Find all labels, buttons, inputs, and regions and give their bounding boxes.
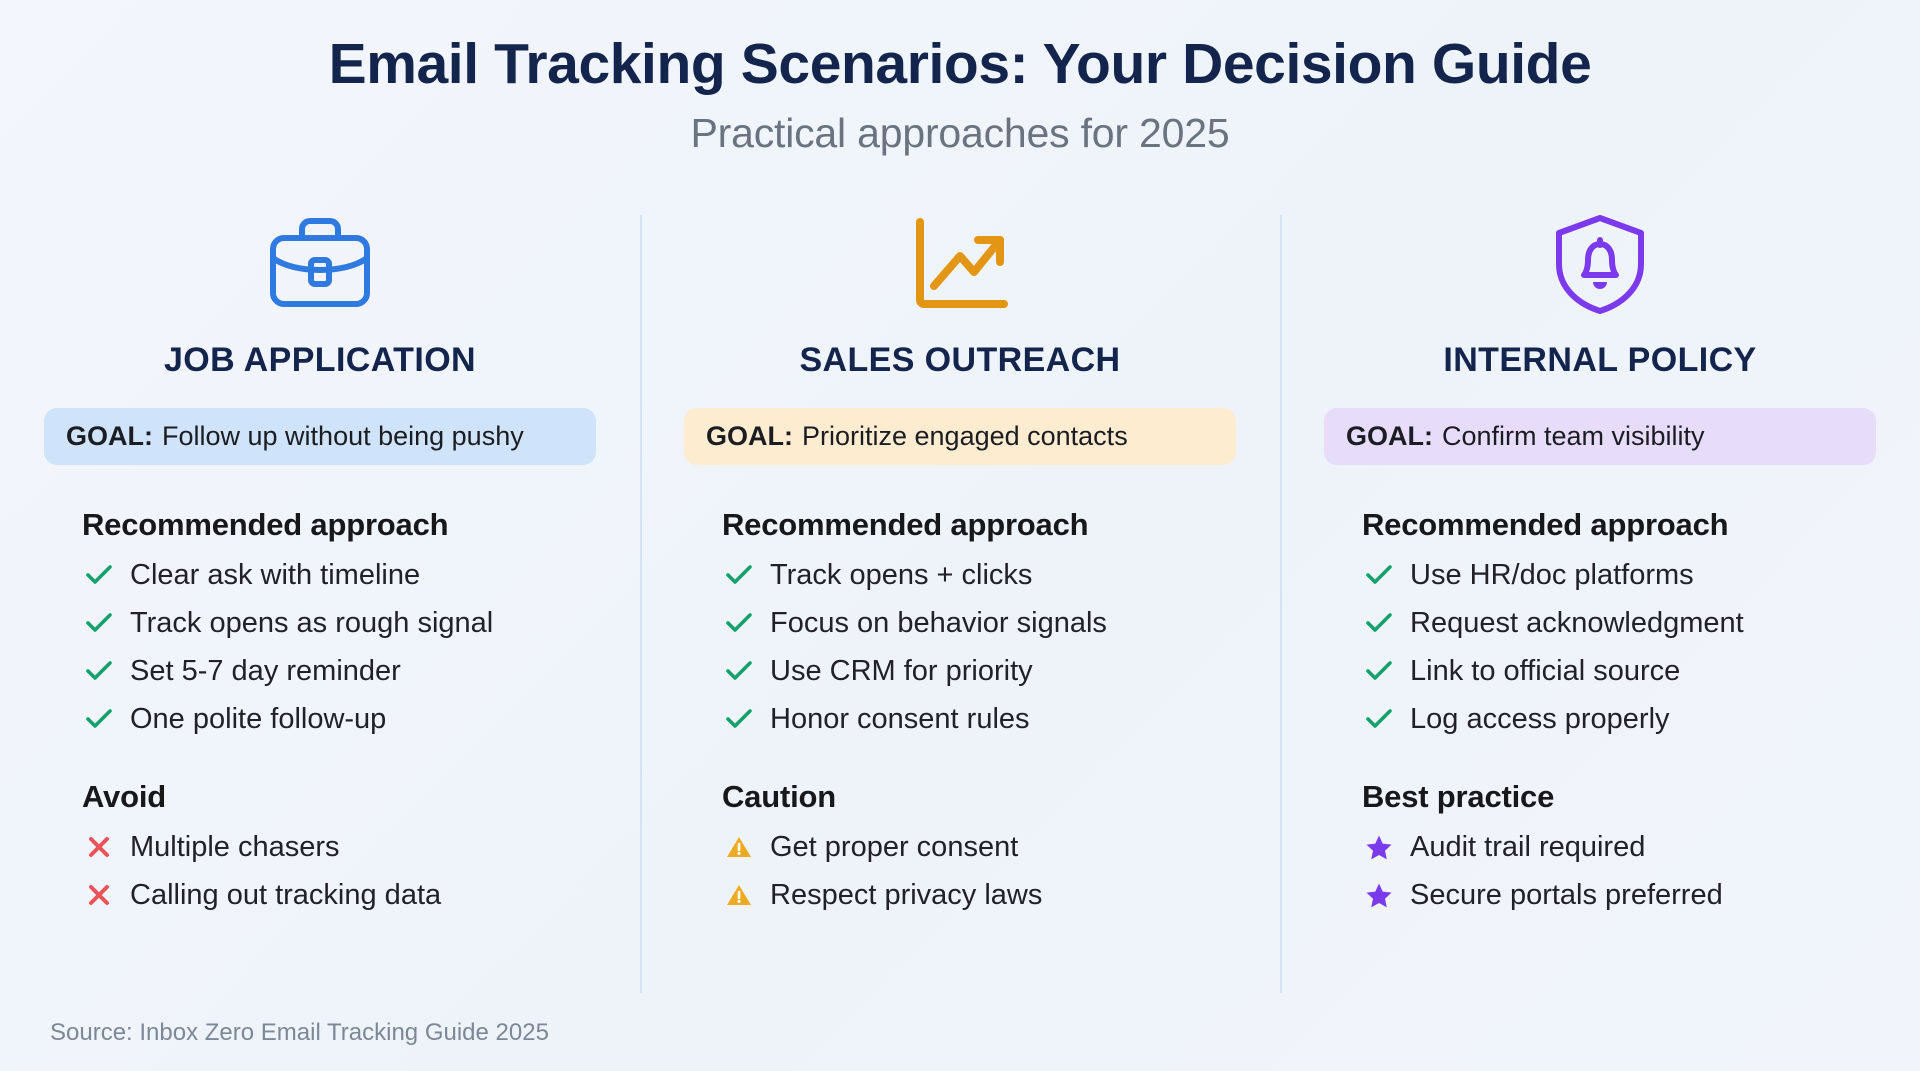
list-item-label: Audit trail required	[1410, 827, 1645, 867]
list-item: Secure portals preferred	[1362, 871, 1876, 919]
check-marker	[1362, 560, 1396, 590]
section-internal-policy-1: Best practice Audit trail required Secur…	[1324, 779, 1876, 919]
section-heading: Recommended approach	[722, 507, 1236, 543]
list-item: Log access properly	[1362, 695, 1876, 743]
list-item: One polite follow-up	[82, 695, 596, 743]
list-item: Use HR/doc platforms	[1362, 551, 1876, 599]
section-job-application-1: Avoid Multiple chasers Calling out track…	[44, 779, 596, 919]
list-item-label: Focus on behavior signals	[770, 603, 1107, 643]
list-item-label: Multiple chasers	[130, 827, 340, 867]
goal-badge-sales-outreach: GOAL: Prioritize engaged contacts	[684, 408, 1236, 465]
list-item: Honor consent rules	[722, 695, 1236, 743]
list-item-label: Set 5-7 day reminder	[130, 651, 401, 691]
warning-marker	[722, 880, 756, 910]
section-heading: Avoid	[82, 779, 596, 815]
scenario-column-internal-policy: INTERNAL POLICY GOAL: Confirm team visib…	[1280, 205, 1920, 995]
check-icon	[1364, 562, 1394, 588]
list-item-label: Secure portals preferred	[1410, 875, 1723, 915]
check-marker	[722, 704, 756, 734]
list-item: Focus on behavior signals	[722, 599, 1236, 647]
goal-text: Confirm team visibility	[1442, 421, 1705, 452]
list-item: Calling out tracking data	[82, 871, 596, 919]
list-item-label: Track opens + clicks	[770, 555, 1032, 595]
list-item-label: Get proper consent	[770, 827, 1018, 867]
list-item-label: Honor consent rules	[770, 699, 1030, 739]
check-icon	[1364, 610, 1394, 636]
star-marker	[1362, 832, 1396, 862]
goal-badge-job-application: GOAL: Follow up without being pushy	[44, 408, 596, 465]
section-sales-outreach-0: Recommended approach Track opens + click…	[684, 507, 1236, 743]
scenario-column-job-application: JOB APPLICATION GOAL: Follow up without …	[0, 205, 640, 995]
column-icon-wrap	[684, 205, 1236, 323]
scenario-columns: JOB APPLICATION GOAL: Follow up without …	[0, 205, 1920, 995]
section-heading: Recommended approach	[1362, 507, 1876, 543]
list-item-label: Calling out tracking data	[130, 875, 441, 915]
section-list: Audit trail required Secure portals pref…	[1362, 823, 1876, 919]
list-item: Multiple chasers	[82, 823, 596, 871]
star-icon	[1365, 834, 1393, 861]
list-item-label: Respect privacy laws	[770, 875, 1042, 915]
column-title-job-application: JOB APPLICATION	[44, 341, 596, 380]
section-heading: Best practice	[1362, 779, 1876, 815]
list-item: Audit trail required	[1362, 823, 1876, 871]
check-icon	[724, 658, 754, 684]
list-item-label: Clear ask with timeline	[130, 555, 420, 595]
check-icon	[84, 706, 114, 732]
list-item: Get proper consent	[722, 823, 1236, 871]
section-list: Clear ask with timeline Track opens as r…	[82, 551, 596, 743]
check-marker	[82, 608, 116, 638]
list-item: Request acknowledgment	[1362, 599, 1876, 647]
warning-icon	[725, 834, 753, 860]
page-title: Email Tracking Scenarios: Your Decision …	[0, 34, 1920, 96]
column-title-internal-policy: INTERNAL POLICY	[1324, 341, 1876, 380]
section-heading: Recommended approach	[82, 507, 596, 543]
cross-icon	[86, 834, 112, 860]
check-marker	[82, 560, 116, 590]
check-icon	[84, 562, 114, 588]
check-icon	[724, 562, 754, 588]
cross-icon	[86, 882, 112, 908]
list-item: Track opens + clicks	[722, 551, 1236, 599]
check-marker	[722, 656, 756, 686]
check-marker	[1362, 704, 1396, 734]
warning-icon	[725, 882, 753, 908]
list-item: Link to official source	[1362, 647, 1876, 695]
section-list: Track opens + clicks Focus on behavior s…	[722, 551, 1236, 743]
check-icon	[84, 610, 114, 636]
list-item-label: Request acknowledgment	[1410, 603, 1744, 643]
list-item-label: Use CRM for priority	[770, 651, 1033, 691]
check-marker	[722, 560, 756, 590]
list-item-label: Use HR/doc platforms	[1410, 555, 1694, 595]
check-icon	[84, 658, 114, 684]
warning-marker	[722, 832, 756, 862]
list-item: Respect privacy laws	[722, 871, 1236, 919]
shield-bell-icon	[1544, 212, 1656, 316]
header: Email Tracking Scenarios: Your Decision …	[0, 0, 1920, 157]
check-icon	[1364, 658, 1394, 684]
list-item: Clear ask with timeline	[82, 551, 596, 599]
goal-text: Prioritize engaged contacts	[802, 421, 1128, 452]
list-item-label: Log access properly	[1410, 699, 1670, 739]
source-note: Source: Inbox Zero Email Tracking Guide …	[50, 1019, 549, 1047]
check-marker	[1362, 656, 1396, 686]
infographic-page: Email Tracking Scenarios: Your Decision …	[0, 0, 1920, 1071]
check-marker	[1362, 608, 1396, 638]
check-icon	[1364, 706, 1394, 732]
list-item: Set 5-7 day reminder	[82, 647, 596, 695]
star-marker	[1362, 880, 1396, 910]
goal-text: Follow up without being pushy	[162, 421, 524, 452]
column-icon-wrap	[44, 205, 596, 323]
star-icon	[1365, 882, 1393, 909]
list-item-label: One polite follow-up	[130, 699, 386, 739]
cross-marker	[82, 832, 116, 862]
section-list: Get proper consent Respect privacy laws	[722, 823, 1236, 919]
section-list: Multiple chasers Calling out tracking da…	[82, 823, 596, 919]
list-item-label: Track opens as rough signal	[130, 603, 493, 643]
goal-label: GOAL:	[1346, 421, 1433, 452]
goal-badge-internal-policy: GOAL: Confirm team visibility	[1324, 408, 1876, 465]
list-item: Track opens as rough signal	[82, 599, 596, 647]
section-heading: Caution	[722, 779, 1236, 815]
section-list: Use HR/doc platforms Request acknowledgm…	[1362, 551, 1876, 743]
scenario-column-sales-outreach: SALES OUTREACH GOAL: Prioritize engaged …	[640, 205, 1280, 995]
check-marker	[82, 704, 116, 734]
goal-label: GOAL:	[706, 421, 793, 452]
cross-marker	[82, 880, 116, 910]
check-marker	[722, 608, 756, 638]
section-job-application-0: Recommended approach Clear ask with time…	[44, 507, 596, 743]
goal-label: GOAL:	[66, 421, 153, 452]
section-internal-policy-0: Recommended approach Use HR/doc platform…	[1324, 507, 1876, 743]
check-icon	[724, 610, 754, 636]
section-sales-outreach-1: Caution Get proper consent Respect priva…	[684, 779, 1236, 919]
check-marker	[82, 656, 116, 686]
briefcase-icon	[264, 212, 376, 316]
check-icon	[724, 706, 754, 732]
column-icon-wrap	[1324, 205, 1876, 323]
list-item: Use CRM for priority	[722, 647, 1236, 695]
trending-chart-icon	[904, 212, 1016, 316]
page-subtitle: Practical approaches for 2025	[0, 110, 1920, 157]
column-title-sales-outreach: SALES OUTREACH	[684, 341, 1236, 380]
list-item-label: Link to official source	[1410, 651, 1680, 691]
